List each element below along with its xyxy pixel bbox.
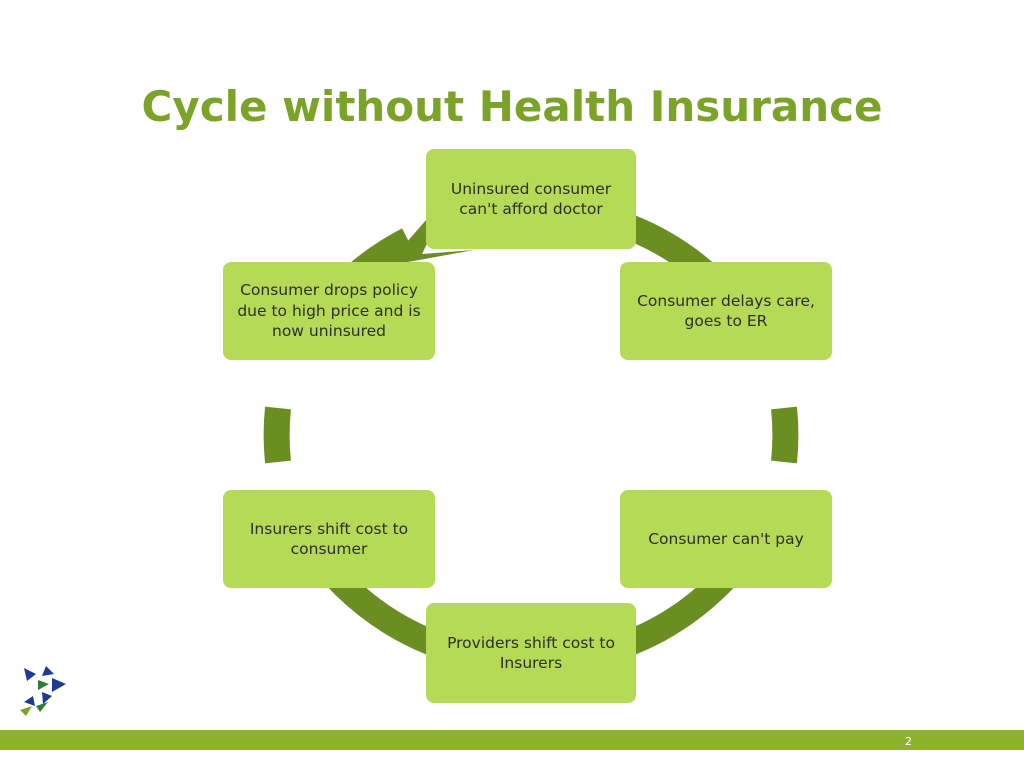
cycle-node-cant-pay[interactable]: Consumer can't pay bbox=[620, 490, 832, 588]
slide-canvas: Cycle without Health Insurance bbox=[0, 0, 1024, 768]
cycle-node-delays-care[interactable]: Consumer delays care, goes to ER bbox=[620, 262, 832, 360]
cycle-node-uninsured-consumer[interactable]: Uninsured consumer can't afford doctor bbox=[426, 149, 636, 249]
cycle-node-insurers-shift-cost[interactable]: Insurers shift cost to consumer bbox=[223, 490, 435, 588]
cycle-node-label: Consumer drops policy due to high price … bbox=[233, 280, 425, 341]
page-title: Cycle without Health Insurance bbox=[0, 82, 1024, 131]
cycle-node-label: Providers shift cost to Insurers bbox=[436, 633, 626, 674]
footer-bar bbox=[0, 730, 1024, 750]
cycle-diagram: Uninsured consumer can't afford doctor C… bbox=[190, 140, 850, 730]
arrow-segment-left bbox=[277, 408, 278, 462]
arrow-segment-right bbox=[784, 408, 785, 462]
cycle-node-drops-policy[interactable]: Consumer drops policy due to high price … bbox=[223, 262, 435, 360]
company-logo-icon bbox=[16, 662, 76, 722]
cycle-node-label: Consumer can't pay bbox=[648, 529, 804, 549]
page-number: 2 bbox=[905, 735, 912, 748]
cycle-node-label: Insurers shift cost to consumer bbox=[233, 519, 425, 560]
cycle-node-label: Consumer delays care, goes to ER bbox=[630, 291, 822, 332]
cycle-node-providers-shift-cost[interactable]: Providers shift cost to Insurers bbox=[426, 603, 636, 703]
cycle-node-label: Uninsured consumer can't afford doctor bbox=[436, 179, 626, 220]
